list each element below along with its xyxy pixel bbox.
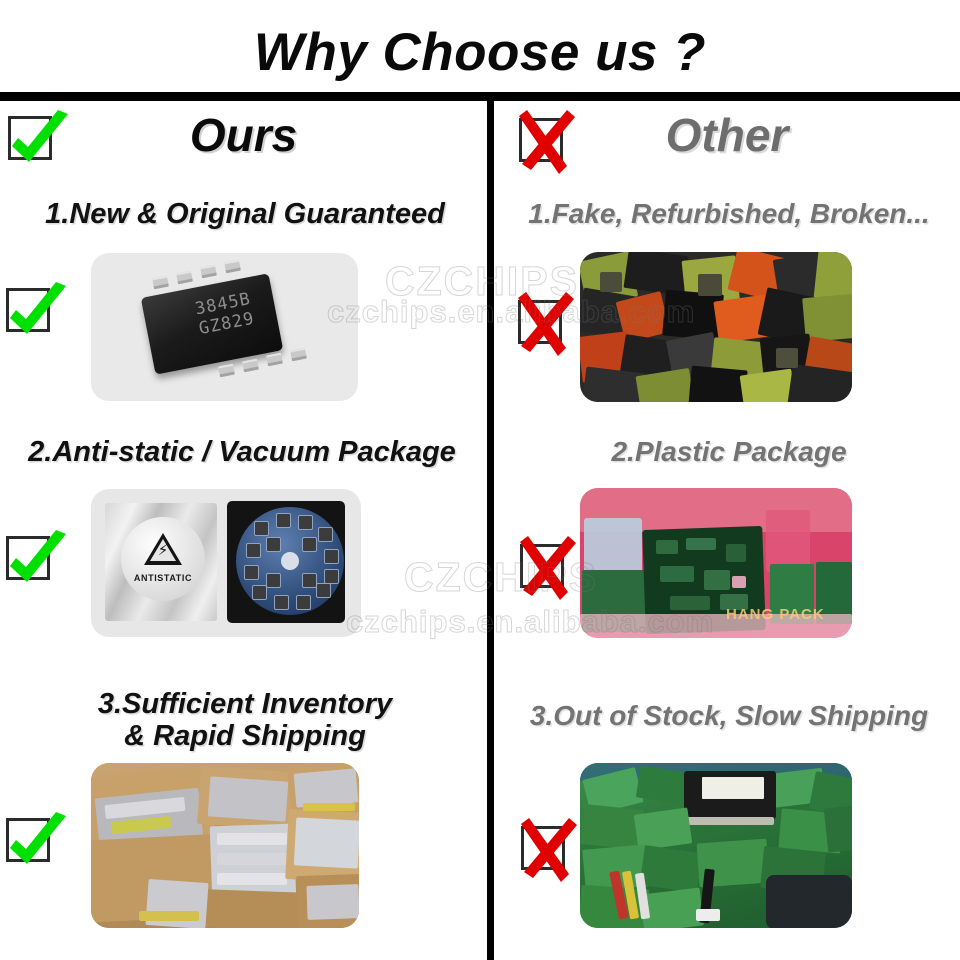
row-1-ours-photo: 3845B GZ829 (91, 253, 358, 401)
column-divider (487, 101, 494, 960)
row-1-other-photo (580, 252, 852, 402)
row-2-ours-photo: ⚡ ANTISTATIC (91, 489, 361, 637)
antistatic-illustration: ⚡ ANTISTATIC (91, 489, 361, 637)
row-3-ours-photo (91, 763, 359, 928)
row-2-ours-text: 2.Anti-static / Vacuum Package (6, 436, 478, 468)
antistatic-bag: ⚡ ANTISTATIC (105, 503, 217, 621)
chip-illustration: 3845B GZ829 (91, 253, 358, 401)
row-3-other-text: 3.Out of Stock, Slow Shipping (500, 700, 958, 731)
row-3-cross-mark-icon (521, 826, 579, 884)
row-2-check-mark-icon (6, 536, 64, 594)
row-1-check-mark-icon (6, 288, 64, 346)
row-2-cross-mark-icon (520, 544, 578, 602)
scrap-chips-mosaic (580, 252, 852, 402)
row-3-check-mark-icon (6, 818, 64, 876)
antistatic-label: ANTISTATIC (121, 573, 205, 583)
row-3-other-photo (580, 763, 852, 928)
row-1-cross-mark-icon (518, 300, 576, 358)
row-2-other-photo: HANG PACK (580, 488, 852, 638)
inventory-boxes-mosaic (91, 763, 359, 928)
row-2-other-text: 2.Plastic Package (500, 436, 958, 467)
check-mark-icon (8, 116, 66, 174)
plastic-package-brand-text: HANG PACK (726, 606, 825, 623)
plastic-package-mosaic: HANG PACK (580, 488, 852, 638)
row-3-ours-text: 3.Sufficient Inventory & Rapid Shipping (20, 688, 470, 753)
page-title: Why Choose us ? (0, 22, 960, 83)
vacuum-tray (227, 501, 345, 623)
cross-mark-icon (519, 118, 577, 176)
why-choose-us-infographic: Why Choose us ? Ours Other 1.New & Origi… (0, 0, 960, 960)
header-divider (0, 92, 960, 101)
scrap-boards-mosaic (580, 763, 852, 928)
row-1-ours-text: 1.New & Original Guaranteed (14, 198, 476, 230)
row-1-other-text: 1.Fake, Refurbished, Broken... (500, 198, 958, 229)
